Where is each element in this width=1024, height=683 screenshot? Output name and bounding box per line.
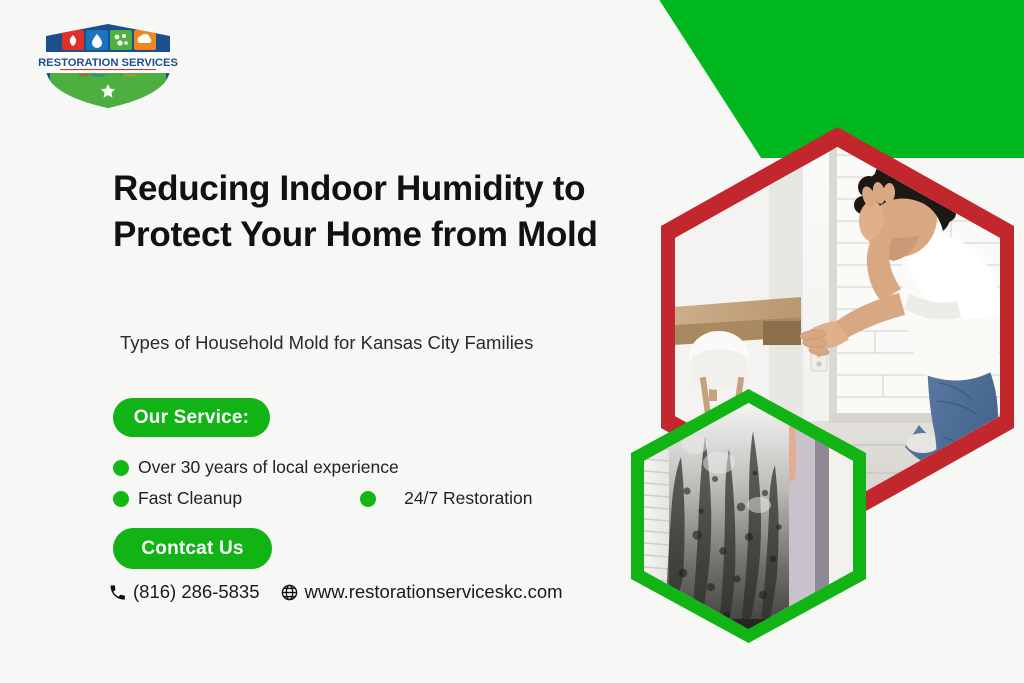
list-item: Over 30 years of local experience bbox=[113, 457, 399, 478]
page-title: Reducing Indoor Humidity to Protect Your… bbox=[113, 166, 673, 258]
photo-mold-wall bbox=[623, 387, 874, 645]
mold-image-frame-green bbox=[623, 387, 874, 645]
bullet-dot-icon bbox=[360, 491, 376, 507]
list-item-label: Fast Cleanup bbox=[138, 488, 242, 509]
phone-icon bbox=[108, 583, 127, 602]
list-row: Fast Cleanup 24/7 Restoration bbox=[113, 483, 633, 514]
logo-wordmark: RESTORATION SERVICES bbox=[38, 57, 178, 69]
contact-us-button[interactable]: Contcat Us bbox=[113, 528, 272, 569]
logo-tagline: Fire • Water • Mold • Storm bbox=[79, 73, 137, 78]
contact-info: (816) 286-5835 www.restorationserviceskc… bbox=[108, 581, 563, 603]
list-item-label: Over 30 years of local experience bbox=[138, 457, 399, 478]
service-list: Over 30 years of local experience Fast C… bbox=[113, 452, 633, 514]
list-row: Over 30 years of local experience bbox=[113, 452, 633, 483]
website-url[interactable]: www.restorationserviceskc.com bbox=[305, 581, 563, 603]
phone-number[interactable]: (816) 286-5835 bbox=[133, 581, 260, 603]
list-item: 24/7 Restoration bbox=[360, 488, 532, 509]
page-subtitle: Types of Household Mold for Kansas City … bbox=[120, 332, 533, 354]
list-item: Fast Cleanup bbox=[113, 488, 242, 509]
company-logo: RESTORATION SERVICES Fire • Water • Mold… bbox=[38, 22, 178, 110]
bullet-dot-icon bbox=[113, 491, 129, 507]
list-item-label: 24/7 Restoration bbox=[404, 488, 532, 509]
bullet-dot-icon bbox=[113, 460, 129, 476]
shoe bbox=[906, 433, 940, 453]
our-service-badge: Our Service: bbox=[113, 398, 270, 437]
globe-icon bbox=[280, 583, 299, 602]
